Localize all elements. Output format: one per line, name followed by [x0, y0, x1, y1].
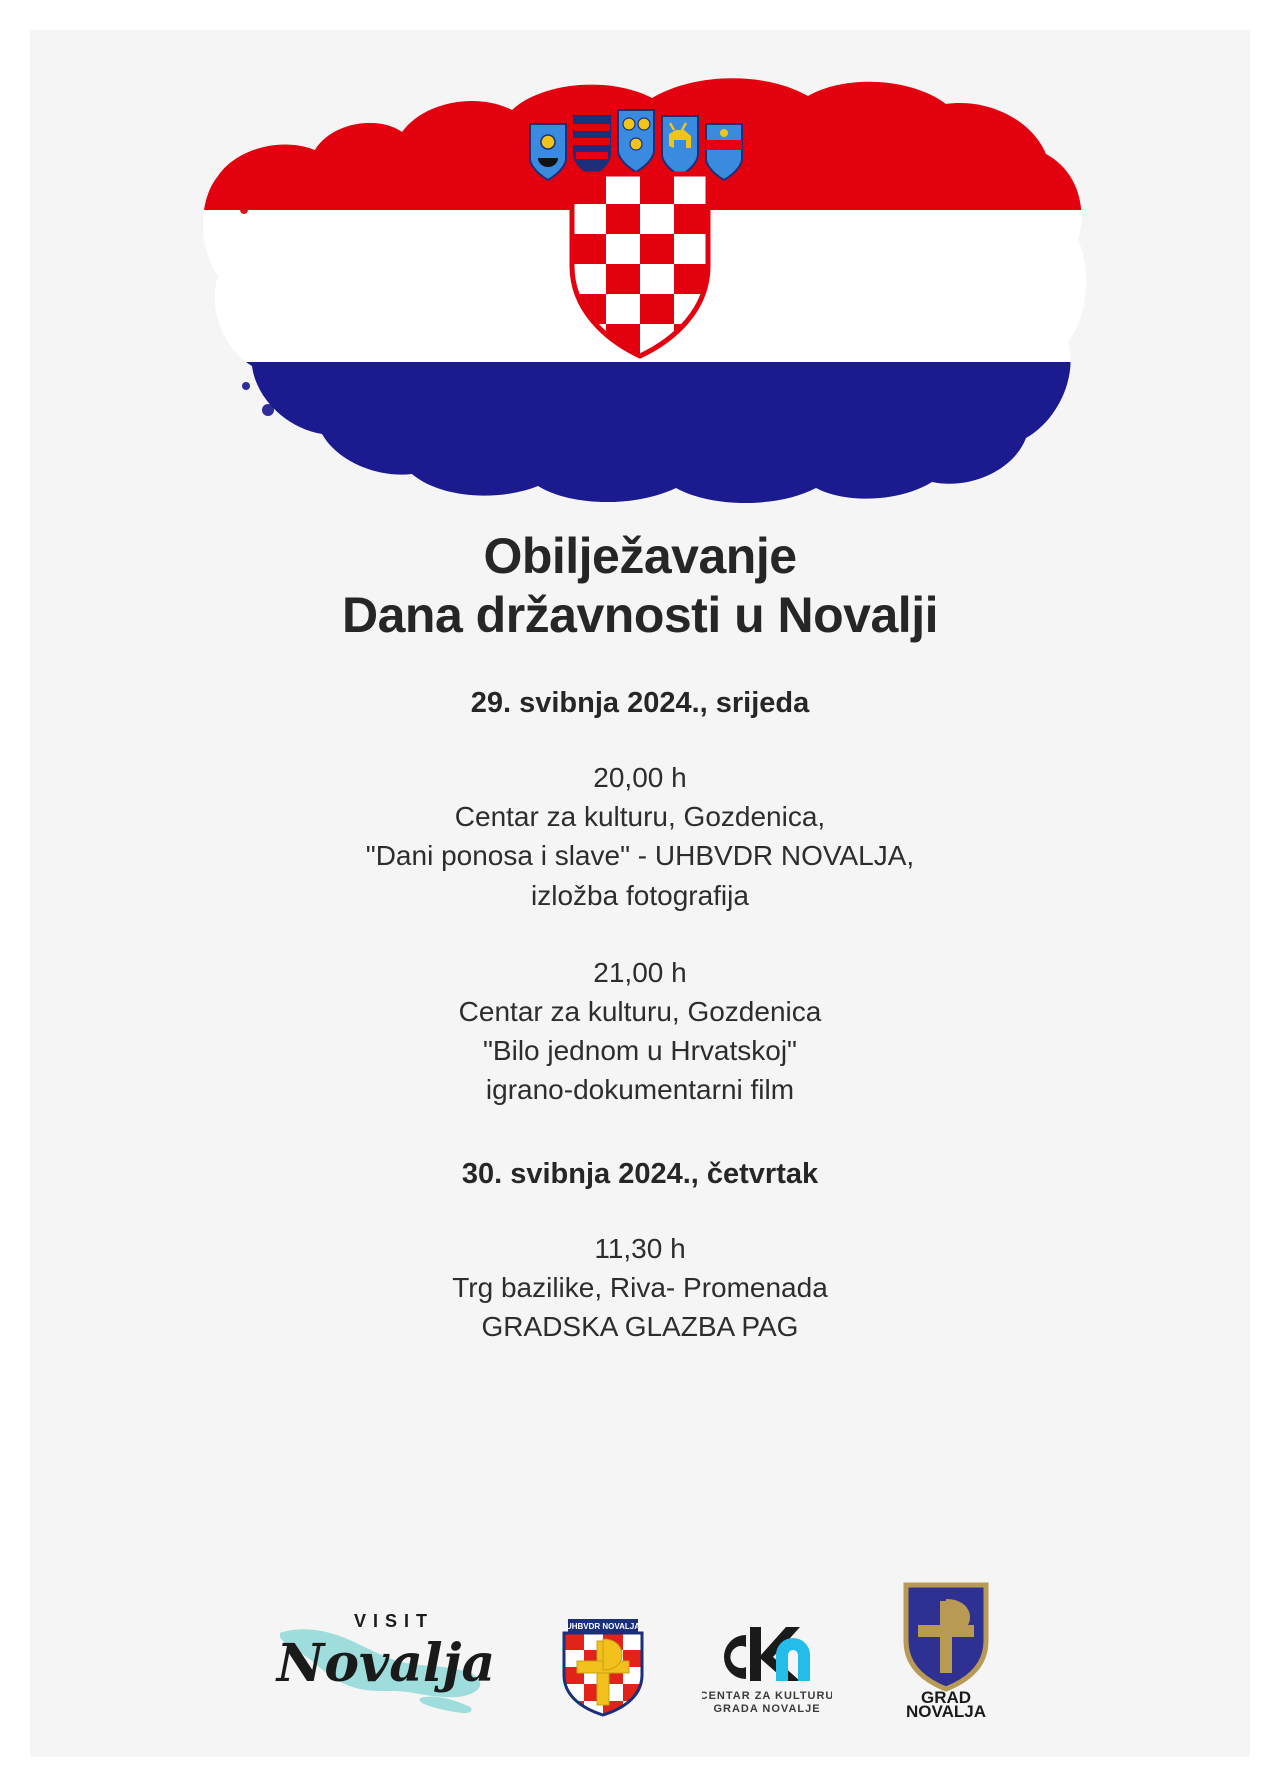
uhbvdr-banner-text: UHBVDR NOVALJA: [566, 1622, 640, 1631]
ckn-letter-c-icon: [724, 1635, 746, 1679]
novalja-script: Novalja: [275, 1633, 495, 1694]
event-block-3: 11,30 h Trg bazilike, Riva- Promenada GR…: [30, 1229, 1250, 1347]
event-detail-line: "Dani ponosa i slave" - UHBVDR NOVALJA,: [30, 836, 1250, 875]
title-line-2: Dana državnosti u Novalji: [30, 586, 1250, 645]
ckn-caption-line-2: GRADA NOVALJE: [713, 1703, 820, 1715]
grad-caption-line-2: NOVALJA: [906, 1702, 986, 1717]
ckn-letter-k-icon: [750, 1627, 800, 1681]
event-time: 20,00 h: [30, 758, 1250, 797]
uhbvdr-shield-mark: UHBVDR NOVALJA: [558, 1617, 648, 1717]
event-detail-line: igrano-dokumentarni film: [30, 1070, 1250, 1109]
poster-content: Obilježavanje Dana državnosti u Novalji …: [30, 513, 1250, 1346]
poster-canvas: Obilježavanje Dana državnosti u Novalji …: [0, 0, 1280, 1787]
visit-novalja-mark: VISIT Novalja: [274, 1597, 504, 1717]
title-line-1: Obilježavanje: [30, 527, 1250, 586]
flag-svg: [140, 58, 1140, 513]
ckn-mark: CENTAR ZA KULTURU GRADA NOVALJE: [702, 1621, 832, 1717]
croatian-flag-artwork: [140, 58, 1140, 513]
event-detail-line: GRADSKA GLAZBA PAG: [30, 1307, 1250, 1346]
partner-logos-row: VISIT Novalja UHBVDR NOVALJA: [210, 1579, 1070, 1717]
event-detail-line: izložba fotografija: [30, 876, 1250, 915]
page-title: Obilježavanje Dana državnosti u Novalji: [30, 527, 1250, 645]
event-detail-line: "Bilo jednom u Hrvatskoj": [30, 1031, 1250, 1070]
logo-grad-novalja: GRAD NOVALJA: [886, 1579, 1006, 1717]
logo-visit-novalja: VISIT Novalja: [274, 1597, 504, 1717]
date-heading-day-two: 30. svibnja 2024., četvrtak: [30, 1158, 1250, 1191]
ckn-caption-line-1: CENTAR ZA KULTURU: [702, 1690, 832, 1702]
logo-ckn: CENTAR ZA KULTURU GRADA NOVALJE: [702, 1621, 832, 1717]
event-detail-line: Centar za kulturu, Gozdenica: [30, 992, 1250, 1031]
visit-word: VISIT: [354, 1611, 434, 1631]
logo-uhbvdr-novalja: UHBVDR NOVALJA: [558, 1617, 648, 1717]
event-detail-line: Centar za kulturu, Gozdenica,: [30, 797, 1250, 836]
event-time: 11,30 h: [30, 1229, 1250, 1268]
event-detail-line: Trg bazilike, Riva- Promenada: [30, 1268, 1250, 1307]
grad-novalja-crest: GRAD NOVALJA: [886, 1579, 1006, 1717]
event-time: 21,00 h: [30, 953, 1250, 992]
ckn-letter-n-icon: [776, 1638, 810, 1681]
event-block-2: 21,00 h Centar za kulturu, Gozdenica "Bi…: [30, 953, 1250, 1110]
poster-sheet: Obilježavanje Dana državnosti u Novalji …: [30, 30, 1250, 1757]
date-heading-day-one: 29. svibnja 2024., srijeda: [30, 687, 1250, 720]
event-block-1: 20,00 h Centar za kulturu, Gozdenica, "D…: [30, 758, 1250, 915]
